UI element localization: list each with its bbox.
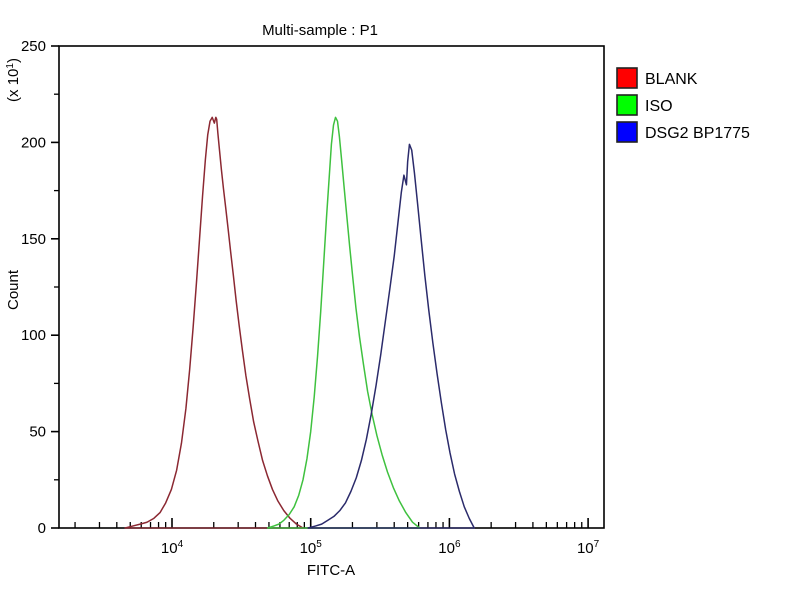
legend-label-dsg2-bp1775: DSG2 BP1775 xyxy=(645,125,750,142)
legend-label-blank: BLANK xyxy=(645,71,698,88)
x-tick-label: 104 xyxy=(161,539,184,557)
y-tick-label: 0 xyxy=(38,520,46,537)
plot-frame xyxy=(59,46,604,528)
x-tick-label: 105 xyxy=(300,539,323,557)
legend-label-iso: ISO xyxy=(645,98,673,115)
y-axis-title: Count xyxy=(5,269,22,310)
y-tick-label: 200 xyxy=(21,134,46,151)
y-tick-label: 250 xyxy=(21,38,46,55)
x-tick-label: 107 xyxy=(577,539,600,557)
y-axis-title-group: Count (x 101) xyxy=(5,58,22,310)
y-axis-unit: (x 101) xyxy=(5,58,22,102)
legend: BLANKISODSG2 BP1775 xyxy=(617,68,750,142)
x-axis-title: FITC-A xyxy=(307,562,355,579)
x-tick-label: 106 xyxy=(438,539,461,557)
y-axis-ticks: 050100150200250 xyxy=(21,38,59,537)
legend-swatch-dsg2-bp1775[interactable] xyxy=(617,122,637,142)
legend-swatch-iso[interactable] xyxy=(617,95,637,115)
legend-swatch-blank[interactable] xyxy=(617,68,637,88)
chart-title: Multi-sample : P1 xyxy=(262,22,378,39)
y-tick-label: 50 xyxy=(29,424,46,441)
flow-cytometry-histogram: Multi-sample : P1 050100150200250 104105… xyxy=(0,0,800,600)
y-tick-label: 150 xyxy=(21,231,46,248)
y-tick-label: 100 xyxy=(21,327,46,344)
